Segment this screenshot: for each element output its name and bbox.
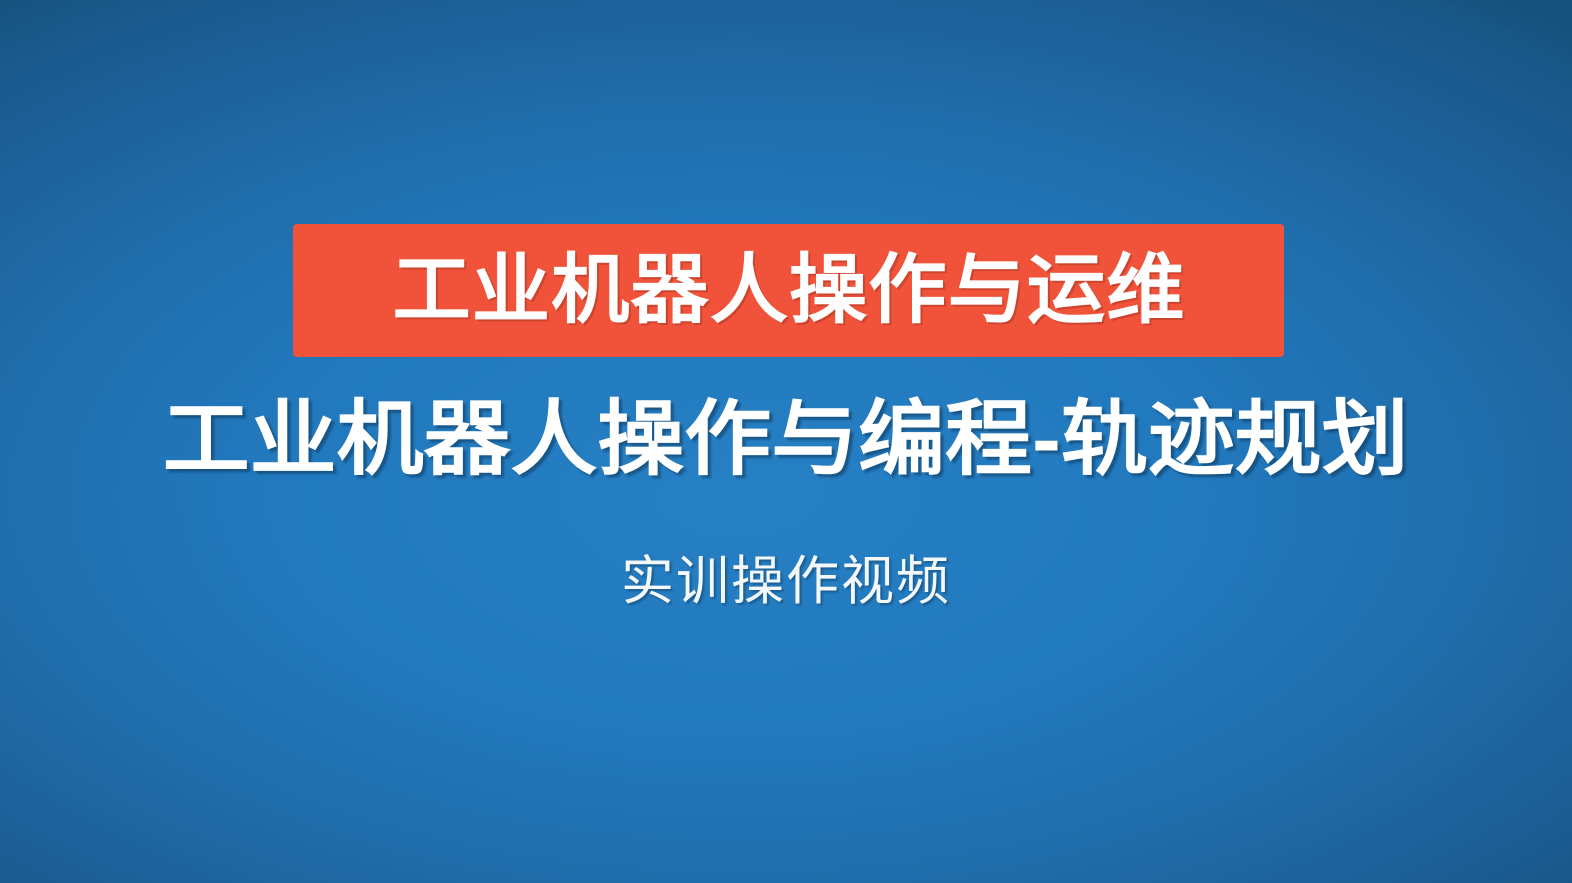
course-name-badge-label: 工业机器人操作与运维 bbox=[392, 253, 1185, 329]
page-subtitle: 实训操作视频 bbox=[621, 555, 951, 608]
page-title: 工业机器人操作与编程-轨迹规划 bbox=[163, 399, 1409, 481]
page-subtitle-row: 实训操作视频 bbox=[0, 548, 1572, 614]
slide-content: 工业机器人操作与运维 工业机器人操作与编程-轨迹规划 实训操作视频 bbox=[0, 0, 1572, 883]
page-title-row: 工业机器人操作与编程-轨迹规划 bbox=[0, 388, 1572, 492]
title-slide: 工业机器人操作与运维 工业机器人操作与编程-轨迹规划 实训操作视频 bbox=[0, 0, 1572, 883]
course-name-badge: 工业机器人操作与运维 bbox=[293, 224, 1284, 357]
